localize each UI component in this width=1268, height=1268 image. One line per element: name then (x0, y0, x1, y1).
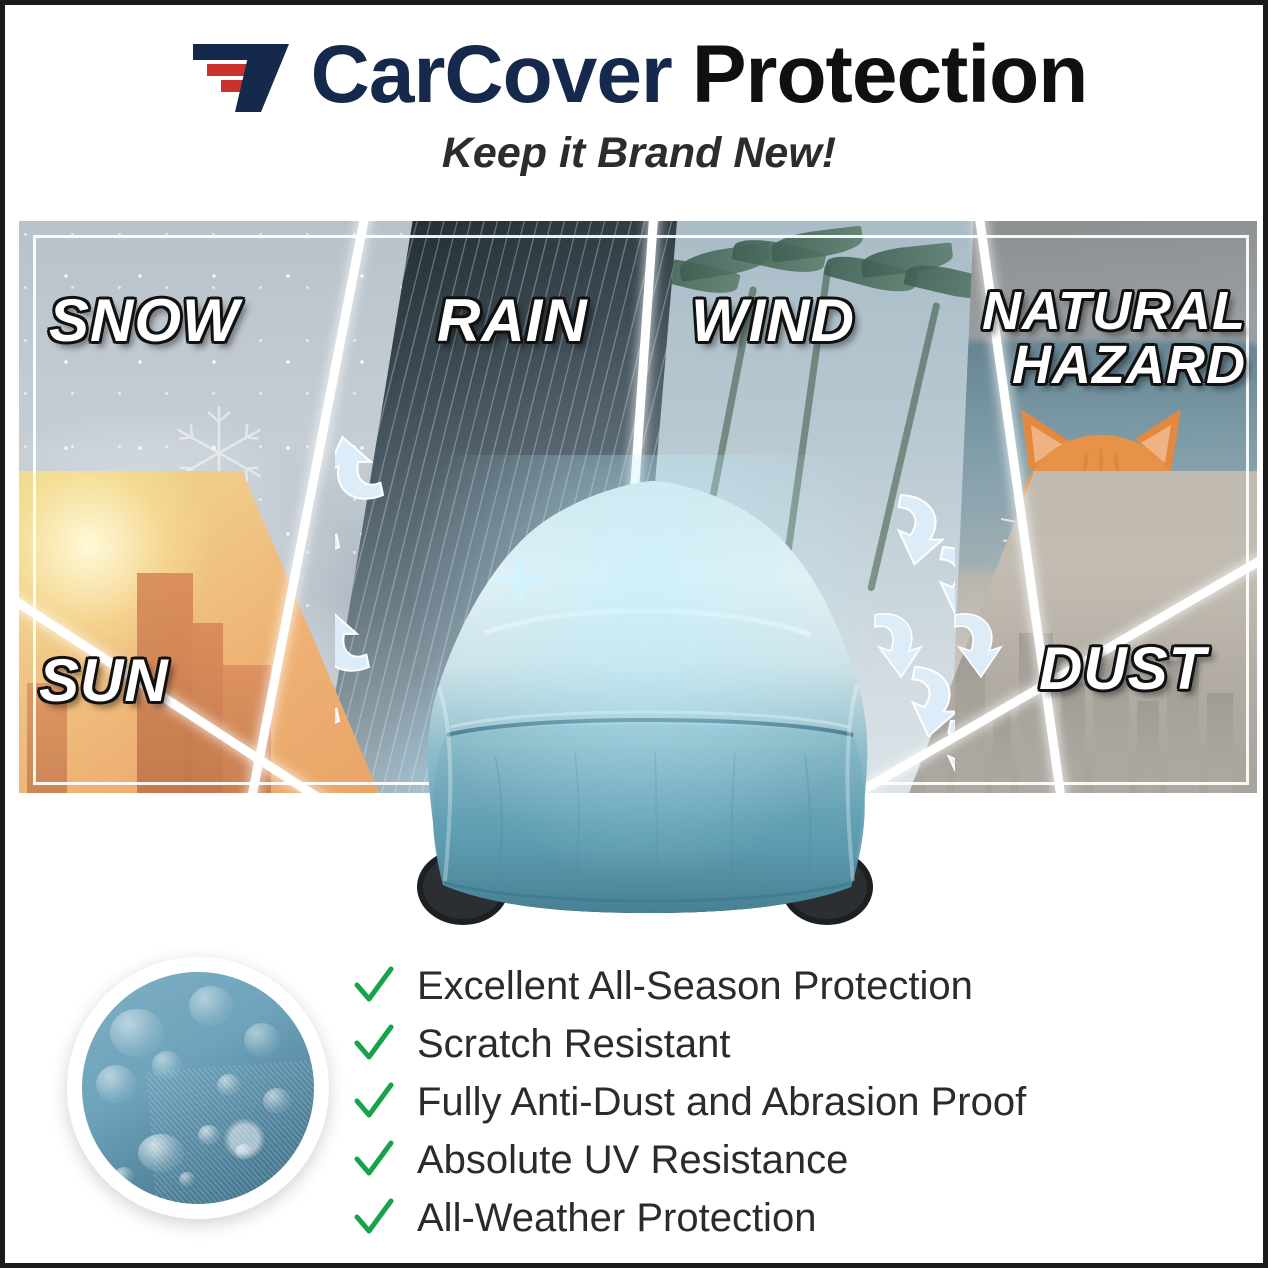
feature-text: Fully Anti-Dust and Abrasion Proof (417, 1082, 1026, 1122)
feature-text: Absolute UV Resistance (417, 1140, 848, 1180)
water-beading-fabric-closeup-icon (67, 957, 329, 1219)
feature-text: Excellent All-Season Protection (417, 966, 973, 1006)
label-wind: WIND (691, 291, 855, 351)
check-icon (353, 965, 395, 1007)
list-item: Excellent All-Season Protection (353, 957, 1153, 1015)
label-rain: RAIN (437, 291, 588, 351)
covered-car-product (335, 435, 955, 955)
label-sun: SUN (39, 651, 169, 711)
feature-text: Scratch Resistant (417, 1024, 730, 1064)
list-item: Absolute UV Resistance (353, 1131, 1153, 1189)
feature-list: Excellent All-Season Protection Scratch … (353, 957, 1153, 1247)
check-icon (353, 1197, 395, 1239)
label-dust: DUST (1039, 639, 1206, 699)
check-icon (353, 1081, 395, 1123)
list-item: Fully Anti-Dust and Abrasion Proof (353, 1073, 1153, 1131)
product-infographic: CarCover Protection Keep it Brand New! (0, 0, 1268, 1268)
header: CarCover Protection Keep it Brand New! (5, 27, 1268, 178)
brand-suffix: Protection (692, 38, 1087, 112)
label-natural-hazard: NATURAL HAZARD (954, 284, 1246, 392)
brand-lockup: CarCover Protection (5, 27, 1268, 123)
tagline: Keep it Brand New! (5, 129, 1268, 178)
icarcover-wing-logo-icon (191, 38, 303, 112)
brand-name: CarCover (311, 38, 672, 112)
list-item: All-Weather Protection (353, 1189, 1153, 1247)
list-item: Scratch Resistant (353, 1015, 1153, 1073)
fabric-macro (82, 972, 314, 1204)
car-highlight-glow (375, 455, 915, 925)
feature-text: All-Weather Protection (417, 1198, 816, 1238)
check-icon (353, 1139, 395, 1181)
check-icon (353, 1023, 395, 1065)
label-snow: SNOW (49, 291, 240, 351)
